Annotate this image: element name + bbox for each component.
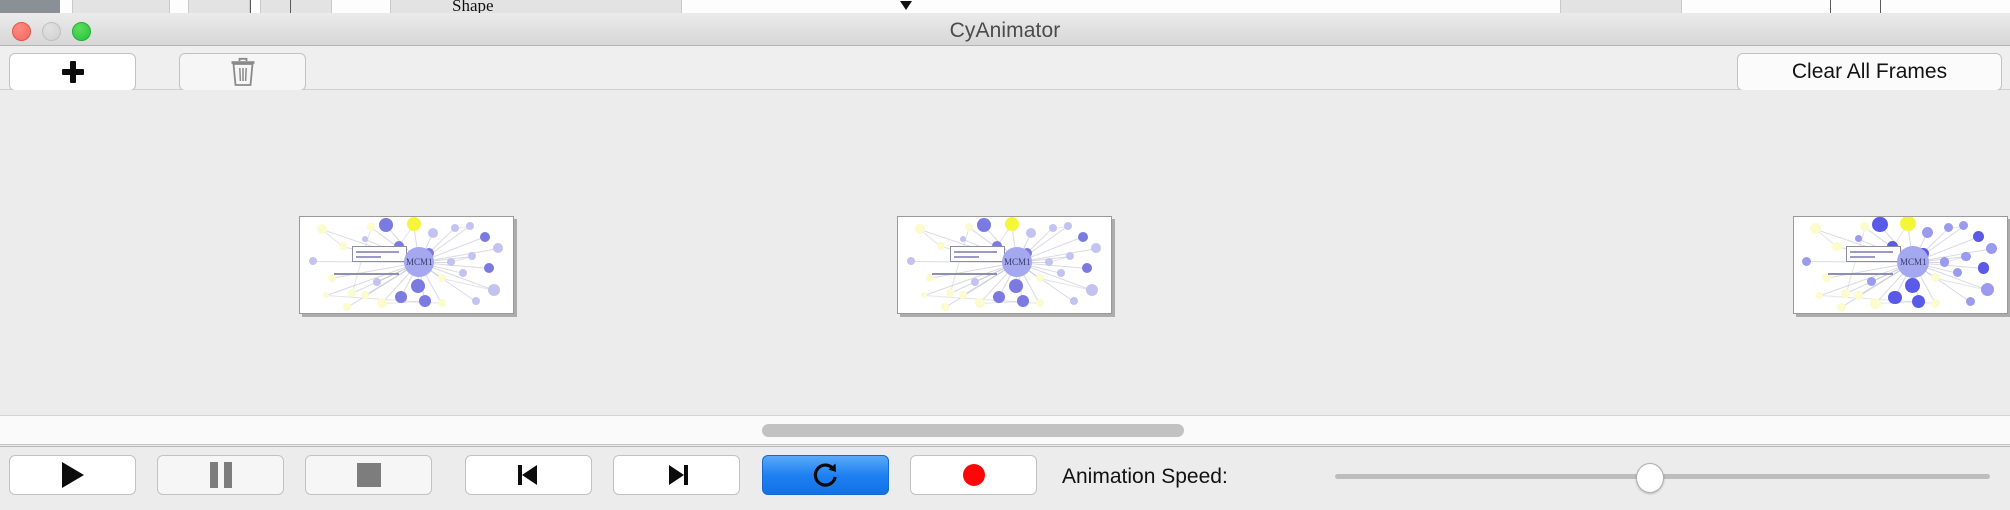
background-window-tick [250,0,251,13]
network-node [438,299,446,307]
pause-button[interactable] [157,455,284,495]
network-node [1888,291,1901,304]
timeline-scrollbar[interactable] [0,415,2010,445]
frame-network-graph: MCM1 [1794,217,2007,313]
network-node [1953,268,1962,277]
network-node [1872,217,1887,232]
network-node [317,224,327,234]
window-title: CyAnimator [0,19,2010,43]
network-node [1036,299,1044,307]
network-node [1057,269,1065,277]
network-node [1086,284,1098,296]
network-node [466,222,474,230]
network-node [1837,303,1846,312]
background-window-tab [0,0,60,13]
network-node [1049,224,1057,232]
network-hub-node: MCM1 [404,247,434,277]
title-bar: CyAnimator [0,13,2010,46]
network-node [1912,295,1925,308]
network-node [1816,292,1823,299]
network-node [343,303,351,311]
network-node [1005,217,1019,231]
network-node [1959,221,1968,230]
slider-thumb[interactable] [1636,463,1664,493]
network-node [1940,257,1949,266]
network-node [907,257,915,265]
annotation-text-line [1850,251,1893,253]
network-node [419,295,431,307]
network-node [428,228,438,238]
skip-end-icon [664,462,690,488]
network-node [1922,227,1933,238]
network-node [451,224,459,232]
network-node [921,292,927,298]
network-node [484,263,494,273]
network-node [339,242,347,250]
network-node [407,217,421,231]
animation-speed-label: Animation Speed: [1062,465,1228,489]
network-node [1961,252,1970,261]
network-caption-text [932,273,997,275]
loop-button[interactable] [762,455,889,495]
plus-icon [62,61,84,83]
network-node [438,274,446,282]
network-hub-node: MCM1 [1002,247,1032,277]
network-node [941,303,949,311]
timeline-panel[interactable]: MCM1MCM1MCM1 2131415161718 Seconds [0,90,2010,345]
network-hub-node: MCM1 [1897,246,1929,278]
clear-all-frames-button[interactable]: Clear All Frames [1737,53,2002,91]
annotation-text-line [356,251,399,253]
network-node [1870,298,1881,309]
background-window-label: Shape [452,0,494,14]
network-node [926,274,934,282]
network-node [1036,274,1044,282]
timeline-frame-thumbnail[interactable]: MCM1 [1793,216,2008,314]
network-node [1832,242,1841,251]
skip-start-icon [516,462,542,488]
network-node [377,298,387,308]
network-node [1905,278,1920,293]
network-node [1978,262,1989,273]
network-node [447,258,455,266]
network-node [309,257,317,265]
background-window-strip: Shape [0,0,2010,14]
network-node [367,223,375,231]
network-node [937,242,945,250]
network-annotation-box [352,246,408,262]
timeline-frame-thumbnail[interactable]: MCM1 [897,216,1112,314]
network-node [965,223,973,231]
background-window-segment [72,0,170,13]
network-node [1066,252,1074,260]
add-frame-button[interactable] [9,53,136,91]
network-node [959,291,967,299]
stop-button[interactable] [305,455,432,495]
loop-icon [811,460,841,490]
network-node [362,236,368,242]
background-window-segment [1560,0,1682,13]
network-node [1026,228,1036,238]
network-node [411,279,425,293]
network-node [1981,283,1994,296]
network-node [472,297,480,305]
network-node [1009,279,1023,293]
delete-frame-button[interactable] [179,53,306,91]
network-node [977,218,991,232]
frame-network-graph: MCM1 [300,217,513,313]
network-annotation-box [1846,246,1902,262]
background-window-tick [1880,0,1881,13]
background-window-tick [290,0,291,13]
network-node [361,291,369,299]
network-node [459,269,467,277]
network-node [960,236,966,242]
background-window-arrow-icon [900,1,912,10]
network-node [1986,243,1997,254]
network-node [1854,291,1863,300]
record-icon [963,464,985,486]
annotation-text-line [954,251,997,253]
trash-icon [230,57,256,87]
network-node [480,232,490,242]
network-node [1064,222,1072,230]
network-node [328,274,336,282]
cyanimator-window: Shape CyAnimator Clear All Frames MCM1MC… [0,0,2010,510]
play-button[interactable] [9,455,136,495]
network-node [1082,263,1092,273]
playback-control-bar: Animation Speed: [0,446,2010,510]
network-annotation-box [950,246,1006,262]
network-node [1931,299,1940,308]
network-node [915,224,925,234]
play-icon [62,462,84,488]
network-node [1966,297,1975,306]
network-node [975,298,985,308]
network-node [493,243,503,253]
stop-icon [357,463,381,487]
network-node [1973,231,1984,242]
background-window-tick [1830,0,1831,13]
network-node [1070,297,1078,305]
network-node [488,284,500,296]
skip-end-button[interactable] [613,455,740,495]
toolbar: Clear All Frames [0,46,2010,90]
annotation-text-line [356,256,382,258]
network-node [1078,232,1088,242]
record-button[interactable] [910,455,1037,495]
network-caption-text [1828,273,1893,275]
network-node [1860,222,1869,231]
network-node [1045,258,1053,266]
network-node [1017,295,1029,307]
background-window-segment [390,0,682,13]
network-node [1802,257,1811,266]
network-node [323,292,329,298]
skip-start-button[interactable] [465,455,592,495]
network-node [1091,243,1101,253]
network-node [468,252,476,260]
network-caption-text [334,273,399,275]
pause-icon [210,462,232,488]
annotation-text-line [1850,256,1876,258]
frame-network-graph: MCM1 [898,217,1111,313]
network-node [1944,223,1953,232]
network-node [1900,216,1915,231]
animation-speed-slider[interactable] [1335,455,1990,495]
background-window-segment [188,0,250,13]
annotation-text-line [954,256,980,258]
background-window-segment [260,0,332,13]
timeline-frame-thumbnail[interactable]: MCM1 [299,216,514,314]
network-node [379,218,393,232]
scrollbar-thumb[interactable] [762,424,1184,437]
